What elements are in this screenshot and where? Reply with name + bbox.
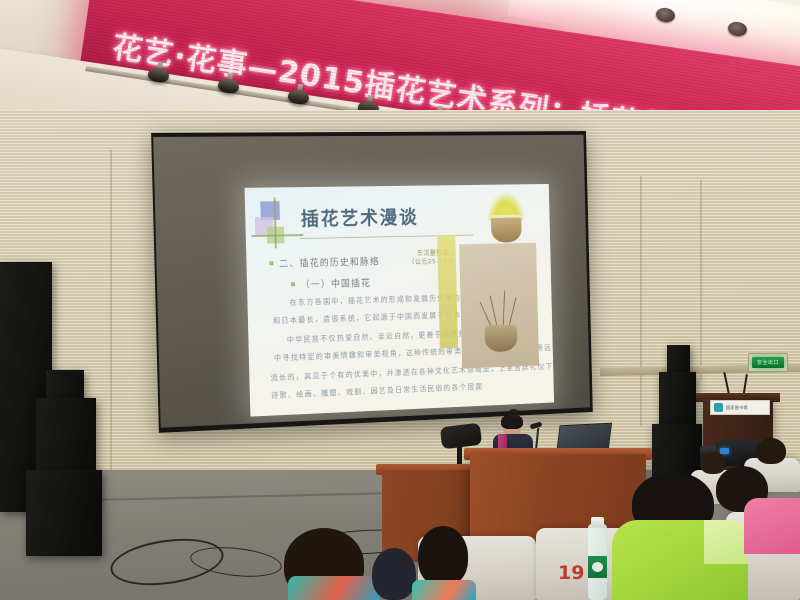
wall-seam-1 [110, 150, 112, 490]
exit-sign-label: 安全出口 [752, 357, 784, 368]
audience-person-1-clothing [288, 576, 380, 600]
spotlight-icon-3 [286, 83, 311, 112]
slide-bullet-2: （一）中国插花 [291, 275, 371, 291]
audience-person-4-hood [704, 520, 748, 564]
slide-bullet-1: 二、插花的历史和脉络 [269, 254, 380, 270]
spotlight-icon-2 [216, 72, 241, 101]
audience-person-5-clothing [744, 498, 800, 554]
pa-speaker-left-base [26, 470, 102, 556]
slide-decoration [255, 201, 294, 245]
presentation-slide: 插花艺术漫谈 二、插花的历史和脉络 （一）中国插花 在东方各国中，插花艺术的形成… [245, 184, 555, 417]
projection-screen: 插花艺术漫谈 二、插花的历史和脉络 （一）中国插花 在东方各国中，插花艺术的形成… [151, 131, 593, 433]
bullet-dot-icon-2 [291, 282, 295, 286]
water-bottle-label [588, 556, 607, 578]
water-bottle-cap [591, 517, 604, 527]
slide-title: 插花艺术漫谈 [301, 203, 419, 231]
audience-person-2 [372, 548, 416, 600]
bullet-dot-icon-1 [270, 261, 274, 265]
wall-seam-3 [700, 180, 702, 380]
slide-paragraph-6: 诗歌、绘画、雕塑、戏剧、园艺及日常生活民俗的各个层面 [271, 383, 483, 400]
exit-sign: 安全出口 [748, 353, 788, 372]
lectern-plaque: 国家图书馆 [710, 400, 770, 415]
lectern-plaque-text: 国家图书馆 [726, 405, 748, 411]
spotlight-icon-1 [146, 61, 171, 90]
projection-screen-surface: 插花艺术漫谈 二、插花的历史和脉络 （一）中国插花 在东方各国中，插花艺术的形成… [153, 135, 590, 428]
audience-person-6 [756, 438, 786, 464]
slide-image-pottery-vase [459, 243, 539, 369]
library-logo-icon [714, 403, 723, 412]
seat-number-19: 19 [558, 562, 584, 584]
slide-bullet-2-text: （一）中国插花 [300, 275, 371, 291]
audience-person-3-clothing [412, 580, 476, 600]
wall-seam-2 [640, 176, 642, 426]
slide-bullet-1-text: 二、插花的历史和脉络 [279, 254, 380, 270]
audience-person-7 [700, 452, 726, 474]
slide-image-flower-basket [480, 192, 533, 248]
pa-speaker-right-mid [659, 372, 696, 432]
lecture-hall-photo: 花艺·花事—2015插花艺术系列：插花艺术漫谈 主讲人：吴雪萍 安全出口 插花艺… [0, 0, 800, 600]
